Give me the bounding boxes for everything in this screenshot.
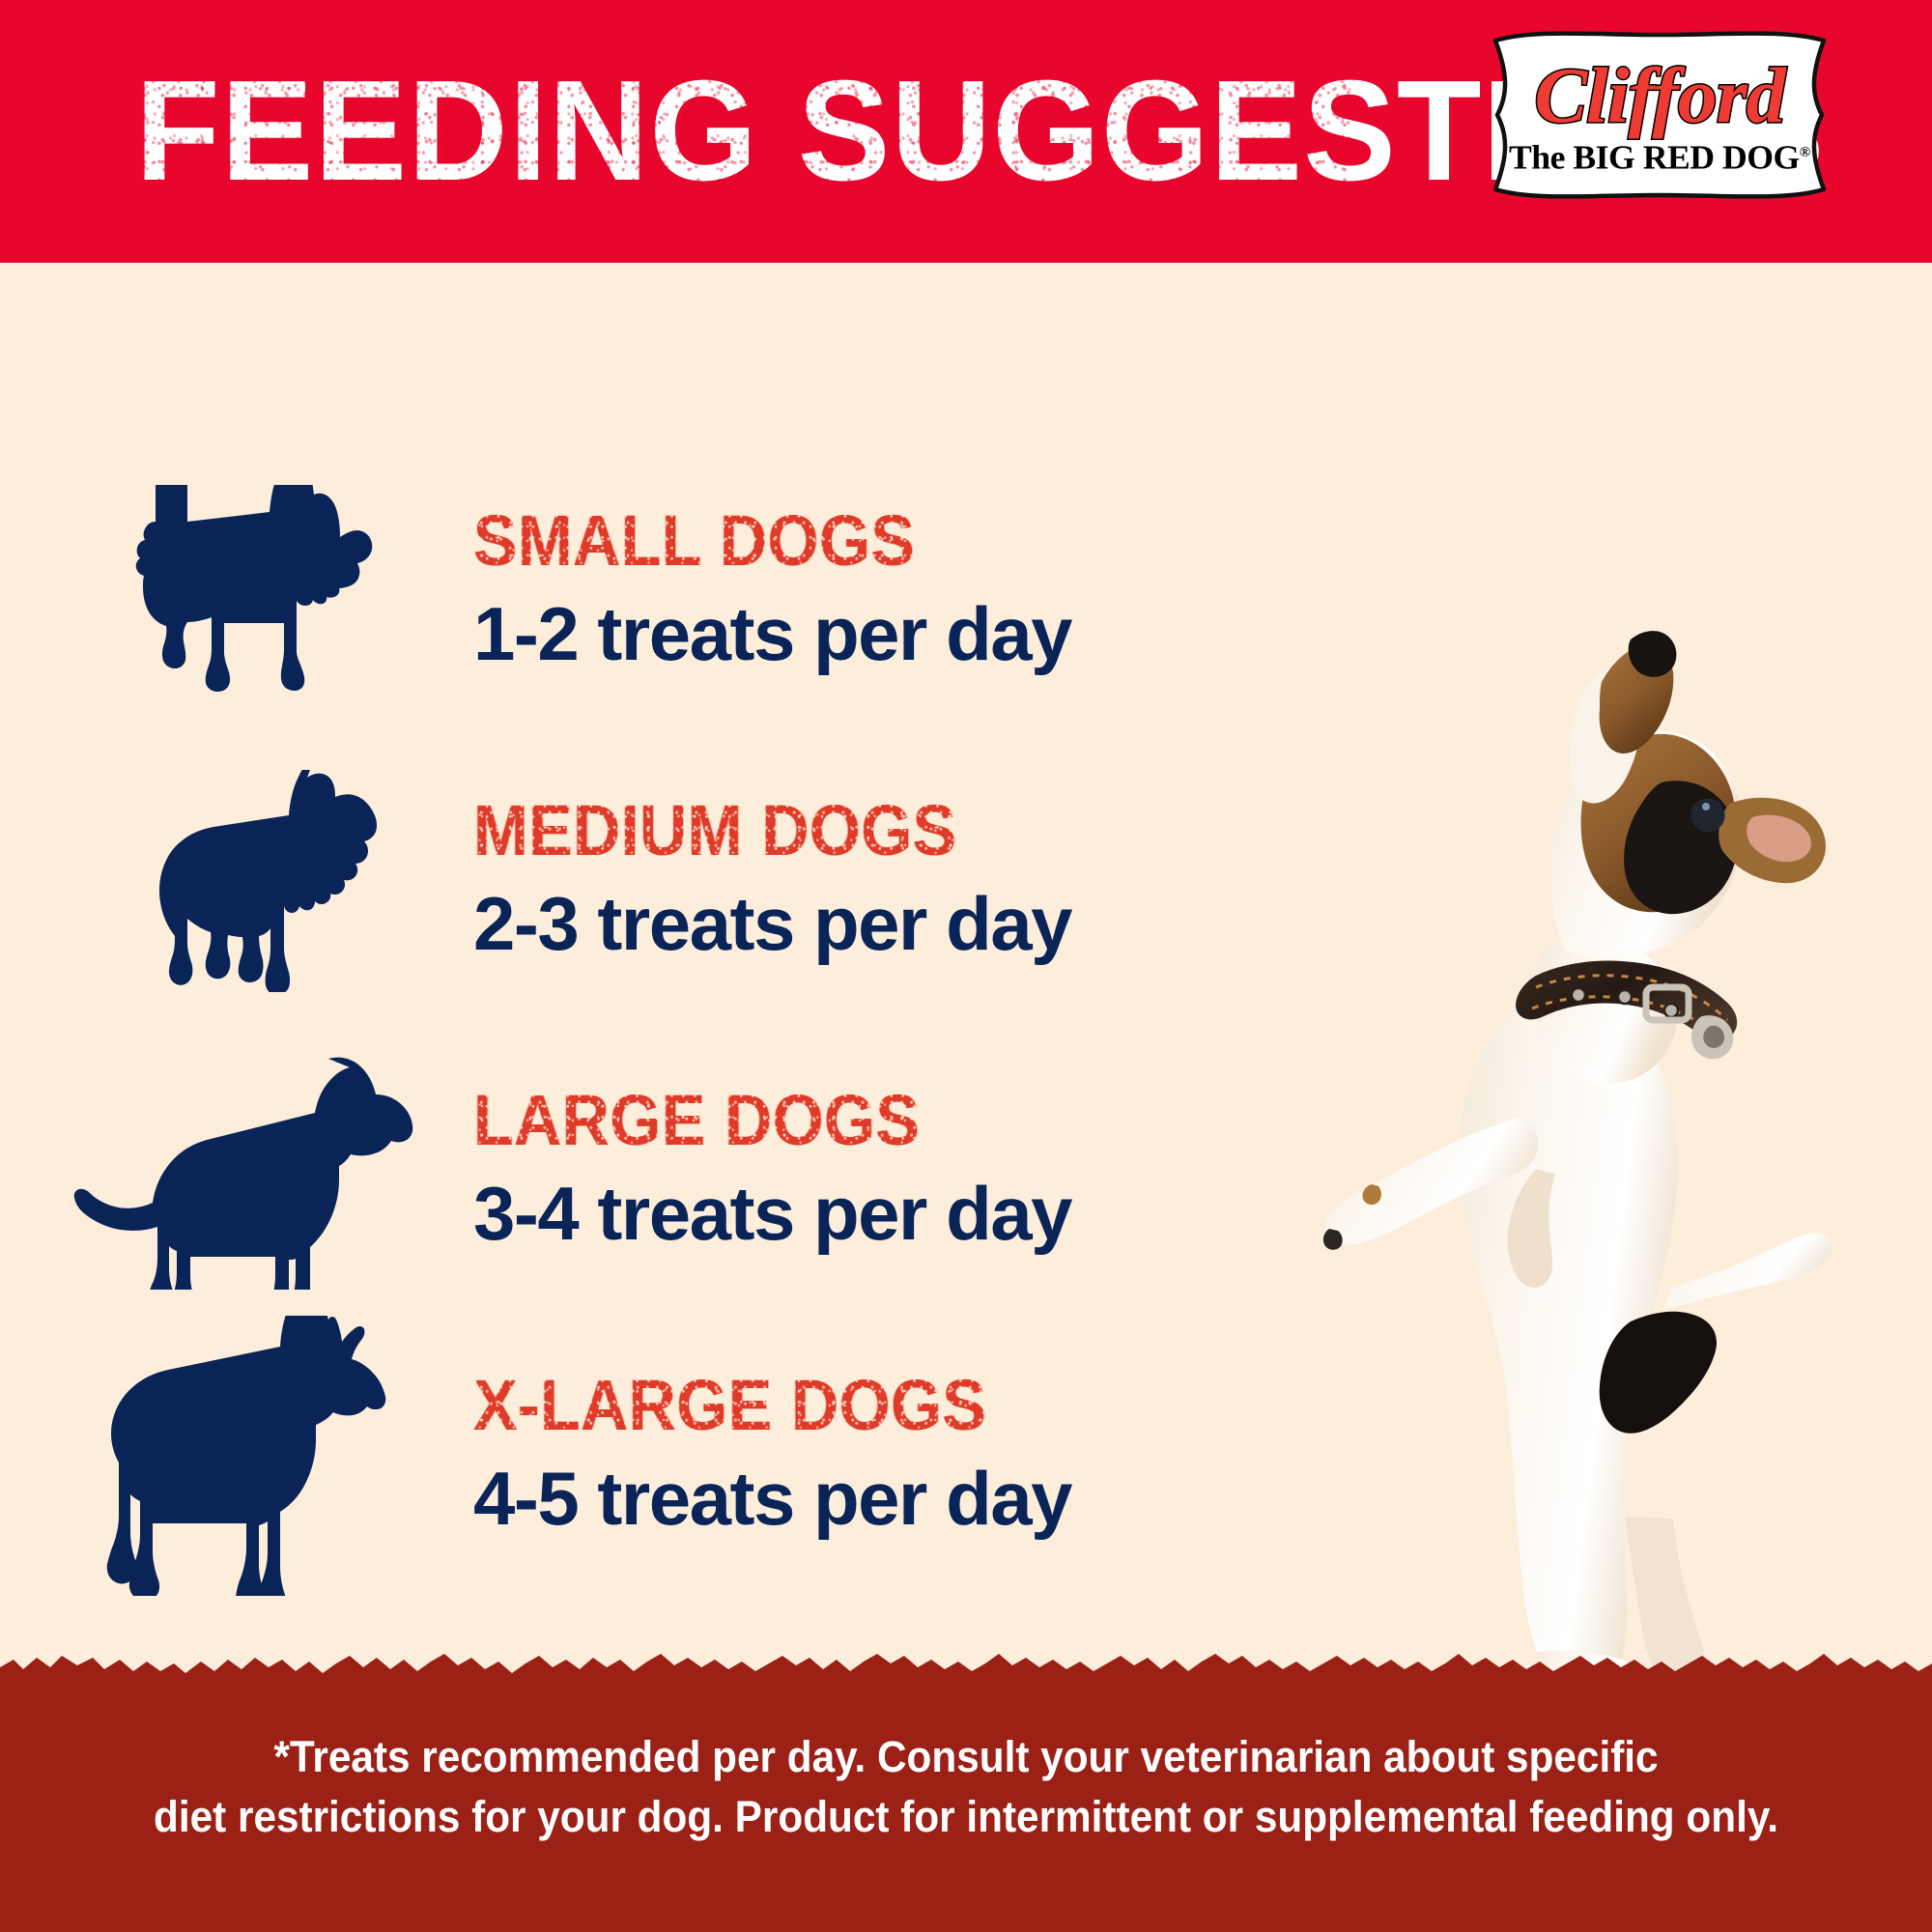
footer-disclaimer-text: *Treats recommended per day. Consult you… xyxy=(58,1727,1874,1847)
size-label-small: SMALL DOGS xyxy=(473,502,915,580)
logo-brand-text: Clifford xyxy=(1534,58,1784,133)
labrador-silhouette-icon xyxy=(0,1026,454,1316)
feeding-row-text: LARGE DOGS 3-4 treats per day xyxy=(454,1082,1314,1260)
disclaimer-line-1: *Treats recommended per day. Consult you… xyxy=(58,1727,1874,1787)
great-dane-silhouette-icon xyxy=(0,1311,454,1601)
collie-silhouette-icon xyxy=(0,736,454,1026)
amount-xlarge: 4-5 treats per day xyxy=(473,1452,1314,1545)
disclaimer-line-2: diet restrictions for your dog. Product … xyxy=(58,1787,1874,1847)
header-banner: FEEDING SUGGESTIONS Clifford The BIG RED… xyxy=(0,0,1932,263)
amount-small: 1-2 treats per day xyxy=(473,587,1314,680)
jumping-jack-russell-terrier-photo xyxy=(1246,493,1932,1719)
amount-medium: 2-3 treats per day xyxy=(473,877,1314,970)
feeding-rows-list: SMALL DOGS 1-2 treats per day MEDIUM DOG… xyxy=(0,263,1314,1662)
footer-disclaimer-band: *Treats recommended per day. Consult you… xyxy=(0,1642,1932,1932)
size-label-medium: MEDIUM DOGS xyxy=(473,792,957,869)
logo-tagline-text: The BIG RED DOG® xyxy=(1509,135,1810,176)
feeding-row-text: MEDIUM DOGS 2-3 treats per day xyxy=(454,792,1314,970)
logo-tagline-label: The BIG RED DOG xyxy=(1509,139,1800,177)
feeding-row-large: LARGE DOGS 3-4 treats per day xyxy=(0,1026,1314,1316)
feeding-suggestions-infographic: FEEDING SUGGESTIONS Clifford The BIG RED… xyxy=(0,0,1932,1932)
page-title: FEEDING SUGGESTIONS xyxy=(135,46,1353,215)
scottish-terrier-silhouette-icon xyxy=(0,446,454,736)
size-label-xlarge: X-LARGE DOGS xyxy=(473,1367,986,1444)
feeding-row-text: SMALL DOGS 1-2 treats per day xyxy=(454,502,1314,680)
feeding-row-xlarge: X-LARGE DOGS 4-5 treats per day xyxy=(0,1311,1314,1601)
size-label-large: LARGE DOGS xyxy=(473,1082,920,1159)
amount-large: 3-4 treats per day xyxy=(473,1167,1314,1260)
registered-mark: ® xyxy=(1800,145,1810,160)
clifford-logo-badge: Clifford The BIG RED DOG® xyxy=(1466,27,1853,203)
feeding-row-medium: MEDIUM DOGS 2-3 treats per day xyxy=(0,736,1314,1026)
feeding-row-text: X-LARGE DOGS 4-5 treats per day xyxy=(454,1367,1314,1545)
feeding-row-small: SMALL DOGS 1-2 treats per day xyxy=(0,446,1314,736)
